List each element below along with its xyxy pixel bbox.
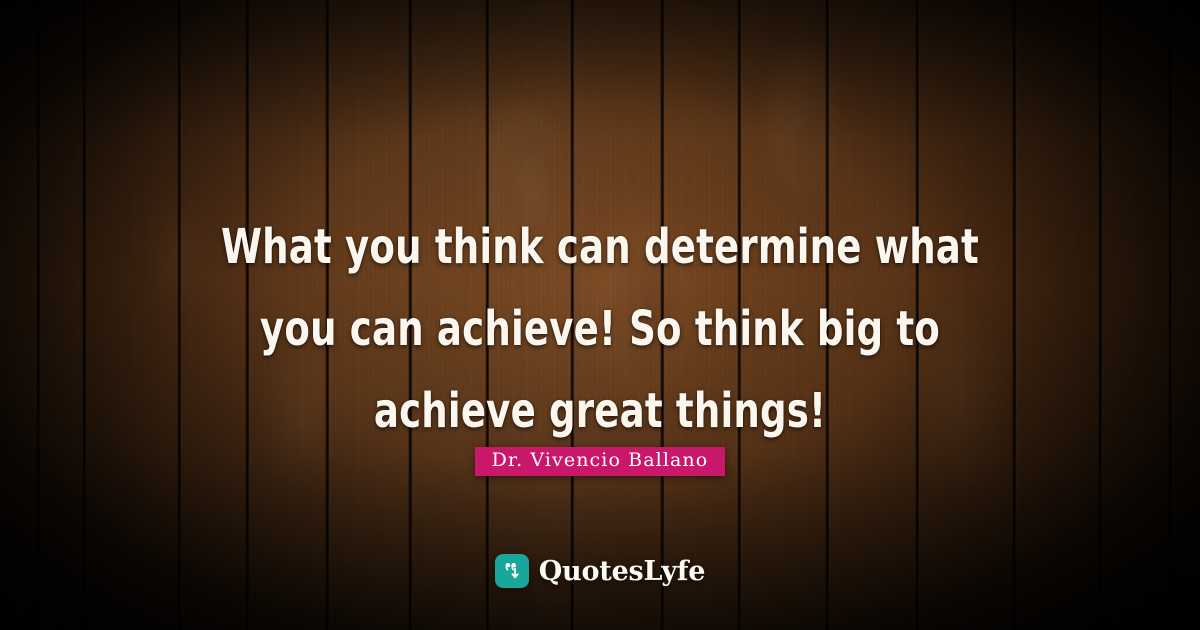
card-content: What you think can determine what you ca… <box>0 0 1200 630</box>
quote-block: What you think can determine what you ca… <box>0 206 1200 452</box>
brand-name: QuotesLyfe <box>539 558 706 585</box>
brand-logo[interactable]: QuotesLyfe <box>0 554 1200 588</box>
author-attribution: Dr. Vivencio Ballano <box>0 447 1200 476</box>
quote-card: What you think can determine what you ca… <box>0 0 1200 630</box>
author-name-badge: Dr. Vivencio Ballano <box>475 447 726 476</box>
quote-text: What you think can determine what you ca… <box>213 206 987 452</box>
quote-mark-icon <box>495 554 529 588</box>
